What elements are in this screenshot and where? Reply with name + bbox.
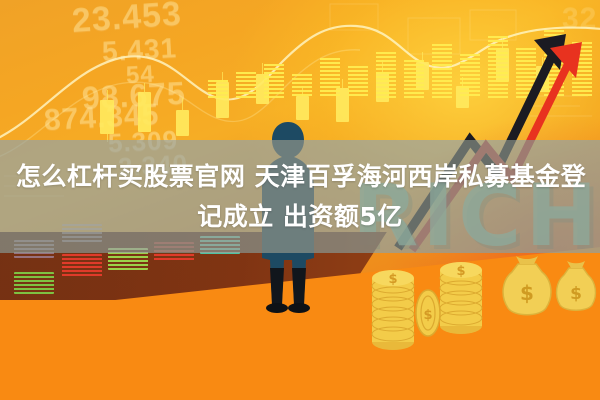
svg-text:$: $	[570, 284, 582, 304]
money-bag-2: $	[552, 258, 600, 320]
svg-text:$: $	[423, 308, 432, 323]
svg-text:$: $	[520, 281, 534, 305]
screen-tile-1	[14, 272, 54, 294]
svg-text:$: $	[456, 264, 465, 279]
screen-tile-2	[62, 254, 102, 278]
coin-stack-right: $	[438, 254, 484, 336]
coin-stack-left: $	[370, 262, 416, 354]
money-bag-1: $	[498, 252, 556, 324]
svg-text:$: $	[388, 272, 397, 287]
caption-line-1: 怎么杠杆买股票官网 天津百孚海河西岸私募基金登	[14, 157, 586, 197]
caption-line-2: 记成立 出资额5亿	[197, 197, 403, 237]
thumbnail-canvas: 23.453 5.431 54 98.675 874.345 5.309 2.3…	[0, 0, 600, 400]
coin-single: $	[412, 288, 444, 338]
caption-band: 怎么杠杆买股票官网 天津百孚海河西岸私募基金登 记成立 出资额5亿	[0, 140, 600, 253]
